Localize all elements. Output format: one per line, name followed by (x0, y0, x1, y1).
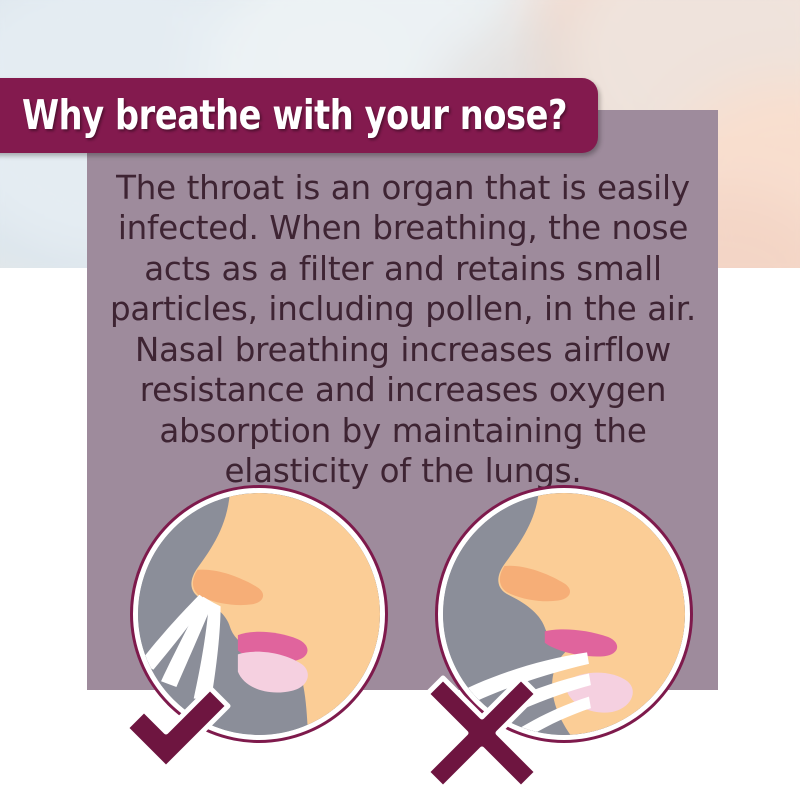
page-title: Why breathe with your nose? (22, 91, 687, 139)
poster-root: Why breathe with your nose? The throat i… (0, 0, 800, 800)
title-banner: Why breathe with your nose? (0, 78, 598, 153)
body-paragraph: The throat is an organ that is easily in… (100, 168, 706, 492)
page-title-text: Why breathe with your nose? (22, 91, 567, 139)
cross-icon (423, 670, 541, 788)
check-icon (118, 666, 236, 784)
